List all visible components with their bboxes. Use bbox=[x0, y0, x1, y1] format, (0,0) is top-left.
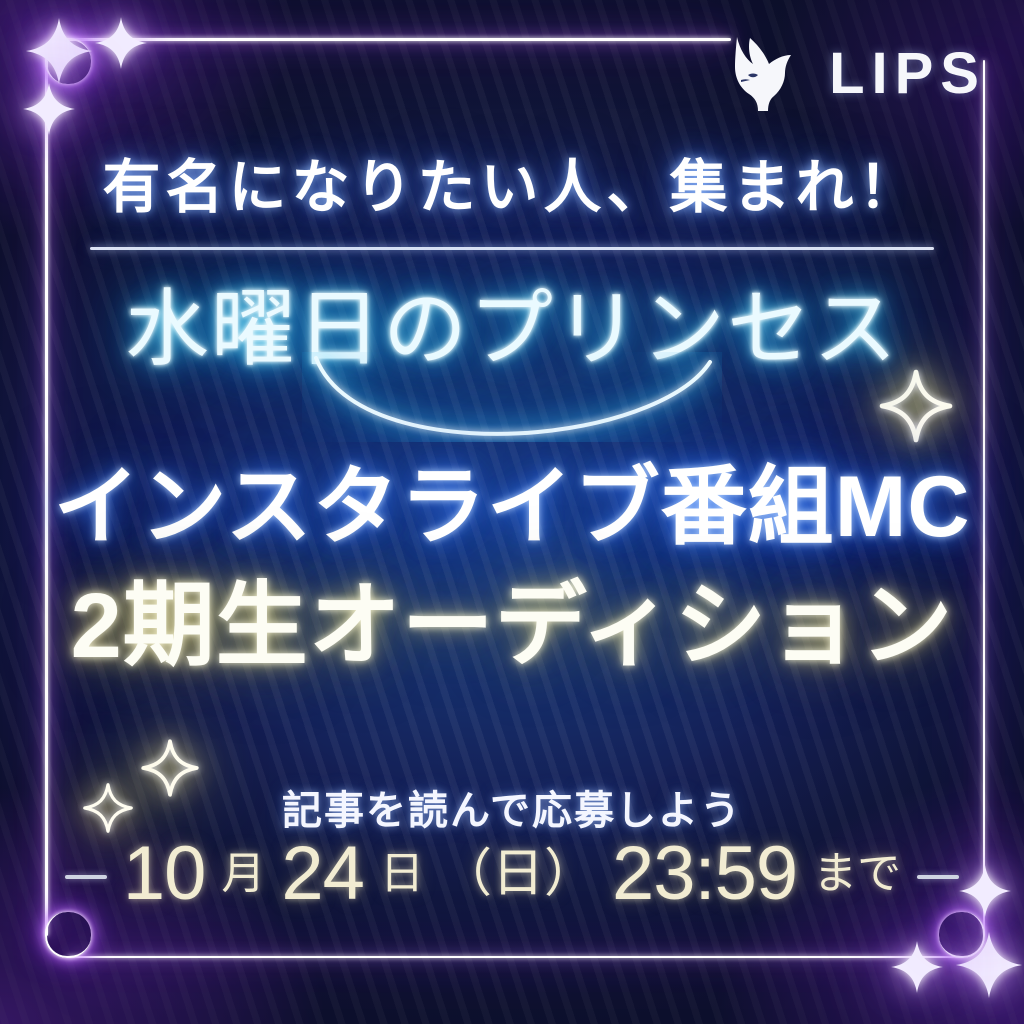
cta-text: 記事を読んで応募しよう bbox=[0, 778, 1024, 836]
brand-logo: LIPS bbox=[725, 34, 986, 114]
program-neon-title: 水曜日のプリンセス bbox=[0, 284, 1024, 375]
deadline-month-unit: 月 bbox=[221, 852, 265, 896]
headline-line-1: インスタライブ番組MC bbox=[0, 462, 1024, 552]
kicker-text: 有名になりたい人、集まれ！ bbox=[0, 158, 1024, 219]
deadline-dash-left bbox=[65, 875, 107, 879]
deadline-row: 10 月 24 日 （日） 23:59 まで bbox=[0, 836, 1024, 912]
header-divider bbox=[90, 247, 934, 250]
deer-head-icon bbox=[725, 34, 811, 114]
deadline-suffix: まで bbox=[813, 852, 901, 896]
deadline-day-unit: 日 bbox=[380, 852, 424, 896]
headline-line-2: 2期生オーディション bbox=[0, 578, 1024, 675]
deadline-weekday: （日） bbox=[440, 848, 596, 900]
deadline-month-number: 10 bbox=[123, 836, 206, 912]
promo-poster: LIPS 有名になりたい人、集まれ！ 水曜日のプリンセス インスタライブ番組MC… bbox=[0, 0, 1024, 1024]
deadline-time: 23:59 bbox=[612, 836, 797, 912]
brand-wordmark: LIPS bbox=[829, 45, 986, 103]
deadline-dash-right bbox=[917, 875, 959, 879]
deadline-day-number: 24 bbox=[281, 836, 364, 912]
